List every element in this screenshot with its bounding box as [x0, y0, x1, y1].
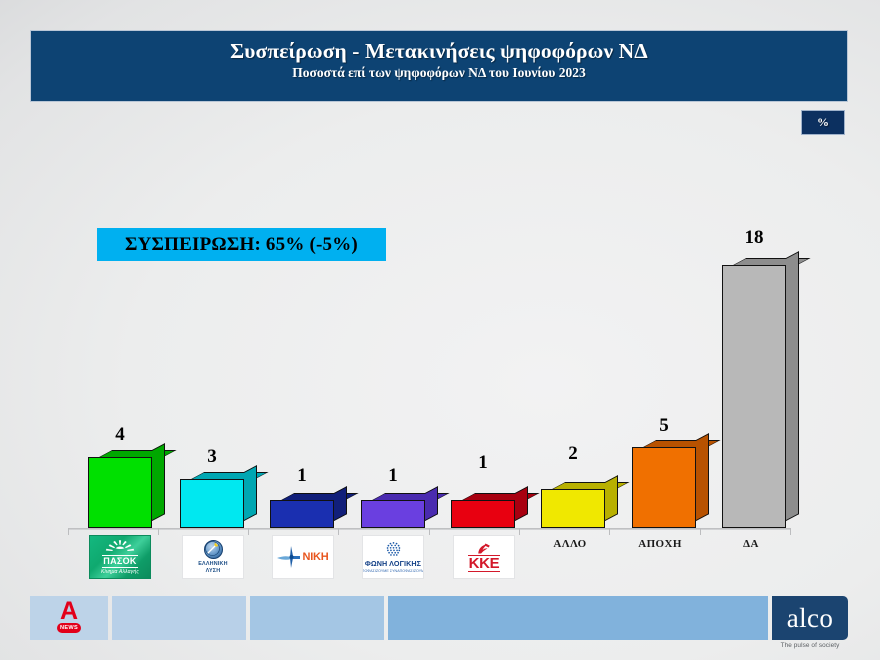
hammer-sickle-icon	[475, 542, 493, 555]
pasok-name: ΠΑΣΟΚ	[102, 555, 137, 567]
axis-tick	[790, 528, 791, 535]
axis-tick	[68, 528, 69, 535]
bar-value-allo: 2	[551, 443, 595, 465]
bar-side-face	[605, 475, 618, 521]
bar-side-face	[425, 486, 438, 521]
bar-front-face	[722, 265, 786, 528]
category-logo-elliniki-lysi: ΕΛΛΗΝΙΚΗ ΛΥΣΗ	[182, 535, 244, 579]
alpha-news-letter: A	[54, 599, 84, 624]
bar-value-kke: 1	[461, 452, 505, 474]
category-logo-pasok: ΠΑΣΟΚ Κίνημα Αλλαγής	[89, 535, 151, 579]
bar-front-face	[632, 447, 696, 528]
elliniki-lysi-name-line2: ΛΥΣΗ	[206, 568, 221, 575]
bar-value-apochi: 5	[642, 415, 686, 437]
bar-chart-plot: 4 3 1 1 1	[0, 0, 880, 660]
axis-tick	[248, 528, 249, 535]
bar-value-elliniki-lysi: 3	[190, 446, 234, 468]
axis-tick	[338, 528, 339, 535]
alpha-news-word: NEWS	[57, 623, 81, 633]
bar-value-foni-logikis: 1	[371, 465, 415, 487]
category-label-allo: ΑΛΛΟ	[528, 538, 612, 550]
pasok-tagline: Κίνημα Αλλαγής	[101, 569, 139, 575]
bar-side-face	[244, 465, 257, 521]
dotted-sphere-icon	[385, 541, 402, 558]
bar-front-face	[88, 457, 152, 528]
alpha-news-logo: A NEWS	[30, 596, 108, 640]
compass-icon	[204, 540, 223, 559]
category-logo-foni-logikis: ΦΩΝΗ ΛΟΓΙΚΗΣ ΑΠΟΦΑΣΙΖΟΥΜΕ ΣΥΝΑΠΟΦΑΣΙΖΟΥΜ…	[362, 535, 424, 579]
bar-da[interactable]	[722, 265, 786, 528]
bar-value-pasok: 4	[98, 424, 142, 446]
star-burst-icon	[277, 546, 301, 568]
footer-segment-2	[250, 596, 384, 640]
axis-tick	[609, 528, 610, 535]
alco-tagline: The pulse of society	[772, 642, 848, 649]
axis-tick	[700, 528, 701, 535]
bar-apochi[interactable]	[632, 447, 696, 528]
bar-front-face	[541, 489, 605, 528]
foni-logikis-name: ΦΩΝΗ ΛΟΓΙΚΗΣ	[365, 559, 421, 568]
foni-logikis-tagline: ΑΠΟΦΑΣΙΖΟΥΜΕ ΣΥΝΑΠΟΦΑΣΙΖΟΥΜΕ	[362, 569, 424, 573]
alco-brand-name: alco	[787, 605, 834, 632]
elliniki-lysi-name-line1: ΕΛΛΗΝΙΚΗ	[198, 561, 227, 568]
axis-tick	[158, 528, 159, 535]
bar-side-face	[515, 486, 528, 521]
bar-pasok[interactable]	[88, 457, 152, 528]
bar-side-face	[334, 486, 347, 521]
bar-niki[interactable]	[270, 500, 334, 528]
alco-logo: alco	[772, 596, 848, 640]
category-label-apochi: ΑΠΟΧΗ	[618, 538, 702, 550]
bar-side-face	[696, 433, 709, 521]
category-logo-kke: ΚΚΕ	[453, 535, 515, 579]
niki-name: ΝΙΚΗ	[302, 551, 328, 563]
bar-value-da: 18	[732, 227, 776, 249]
bar-side-face	[152, 443, 165, 521]
bar-front-face	[180, 479, 244, 528]
category-label-da: ΔΑ	[709, 538, 793, 550]
bar-value-niki: 1	[280, 465, 324, 487]
bar-front-face	[270, 500, 334, 528]
sun-rays-icon	[103, 539, 137, 554]
bar-front-face	[361, 500, 425, 528]
footer-segment-3	[388, 596, 768, 640]
footer-bar: A NEWS alco The pulse of society	[0, 596, 880, 660]
bar-side-face	[786, 251, 799, 521]
kke-name: ΚΚΕ	[468, 555, 501, 572]
bar-elliniki-lysi[interactable]	[180, 479, 244, 528]
axis-tick	[429, 528, 430, 535]
axis-tick	[519, 528, 520, 535]
bar-front-face	[451, 500, 515, 528]
category-logo-niki: ΝΙΚΗ	[272, 535, 334, 579]
bar-allo[interactable]	[541, 489, 605, 528]
footer-segment-1	[112, 596, 246, 640]
slide-canvas: Συσπείρωση - Μετακινήσεις ψηφοφόρων ΝΔ Π…	[0, 0, 880, 660]
bar-kke[interactable]	[451, 500, 515, 528]
bar-foni-logikis[interactable]	[361, 500, 425, 528]
